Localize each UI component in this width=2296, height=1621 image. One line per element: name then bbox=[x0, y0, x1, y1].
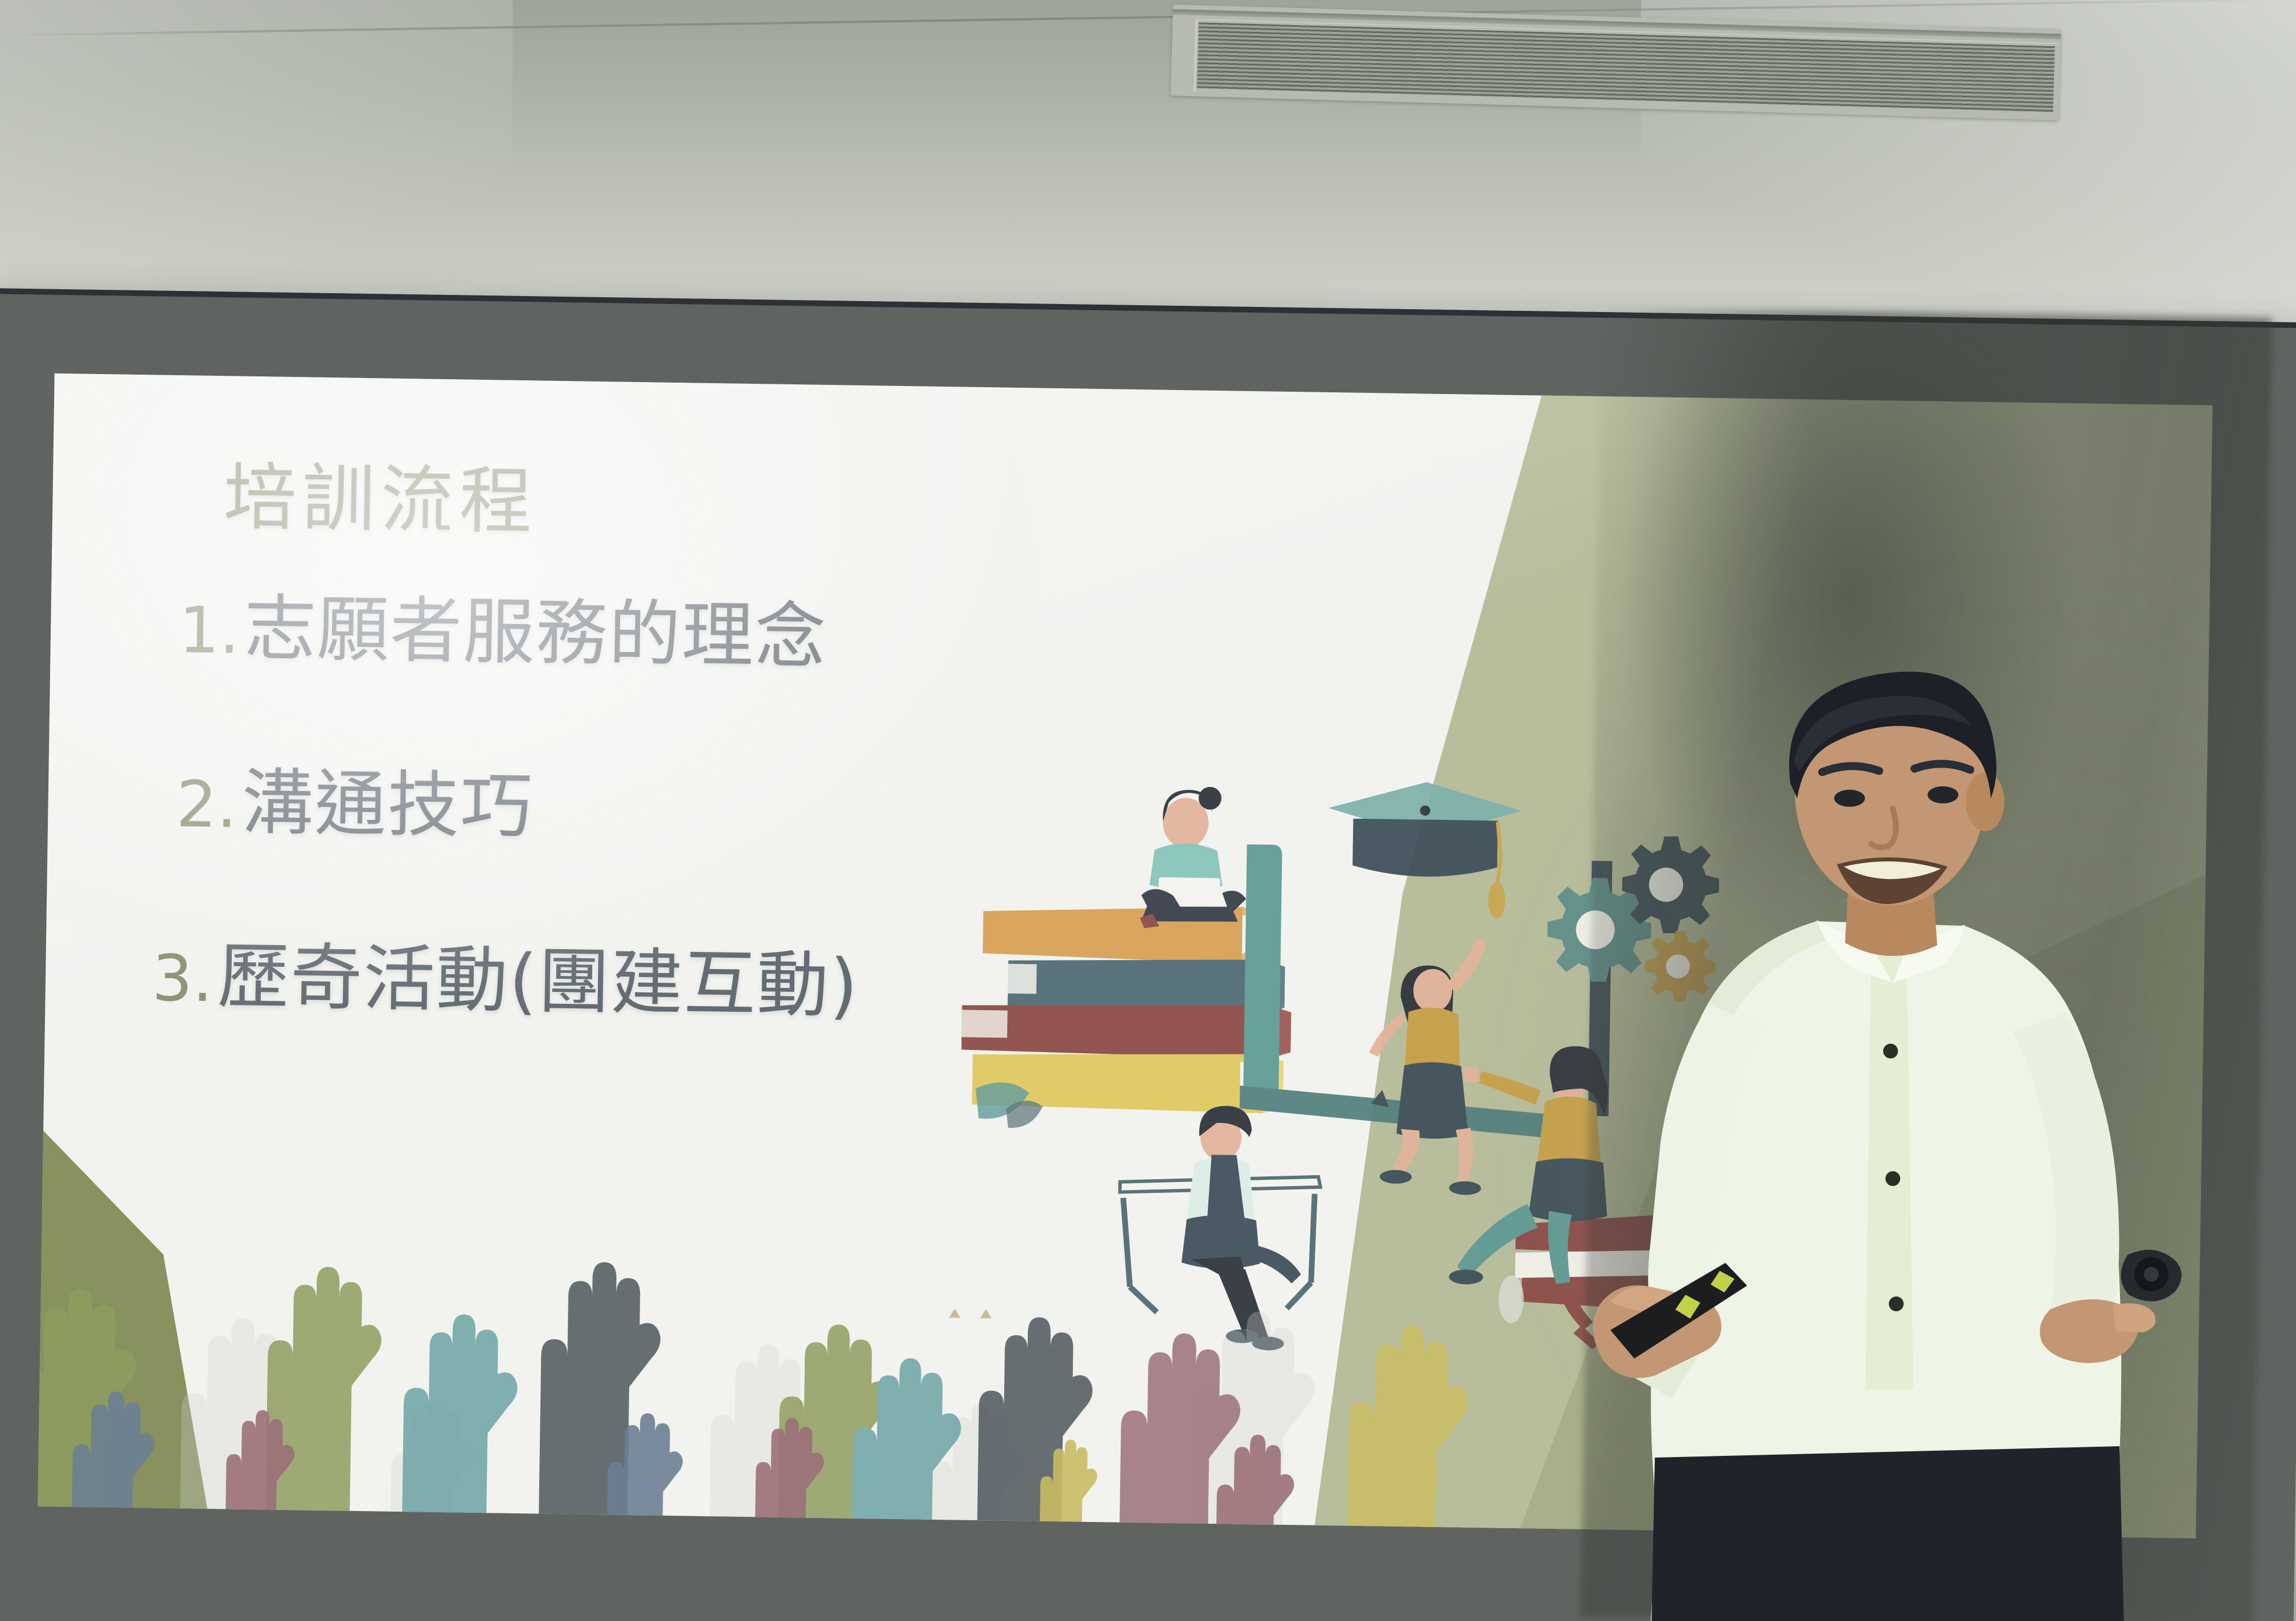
list-item-number: 3. bbox=[151, 946, 214, 1011]
presenter-person bbox=[1549, 649, 2221, 1621]
presenter-eye-right bbox=[1928, 786, 1958, 803]
raised-hands-banner bbox=[38, 1188, 1534, 1529]
shirt-button bbox=[1883, 1044, 1898, 1058]
graduation-cap-icon bbox=[1327, 781, 1522, 919]
person-tossing-cap-icon bbox=[1367, 936, 1487, 1195]
presenter-trousers bbox=[1651, 1446, 2124, 1621]
list-item: 1. 志願者服務的理念 bbox=[178, 592, 1318, 680]
slide-title: 培訓流程 bbox=[223, 461, 539, 539]
photo-stage: INVI 培訓流程 1. 志願者服務的理念 2. 溝通技巧 3. bbox=[0, 0, 2296, 1621]
list-item-label: 溝通技巧 bbox=[241, 767, 534, 843]
list-item-label: 志願者服務的理念 bbox=[244, 593, 828, 673]
list-item-number: 2. bbox=[176, 773, 238, 838]
shirt-button bbox=[1889, 1296, 1904, 1311]
presenter-hand-gesture bbox=[2040, 1299, 2155, 1363]
list-item-label: 歷奇活動(團建互動) bbox=[217, 941, 859, 1022]
list-item-number: 1. bbox=[178, 598, 240, 663]
wrist-watch-icon bbox=[2121, 1250, 2182, 1302]
presenter-eye-left bbox=[1834, 790, 1865, 807]
person-reading-icon bbox=[1140, 786, 1248, 930]
shirt-button bbox=[1885, 1171, 1900, 1186]
presenter-head bbox=[1789, 672, 2004, 922]
stacked-books-icon bbox=[961, 840, 1294, 1114]
wall-highlight-left bbox=[0, 0, 512, 319]
